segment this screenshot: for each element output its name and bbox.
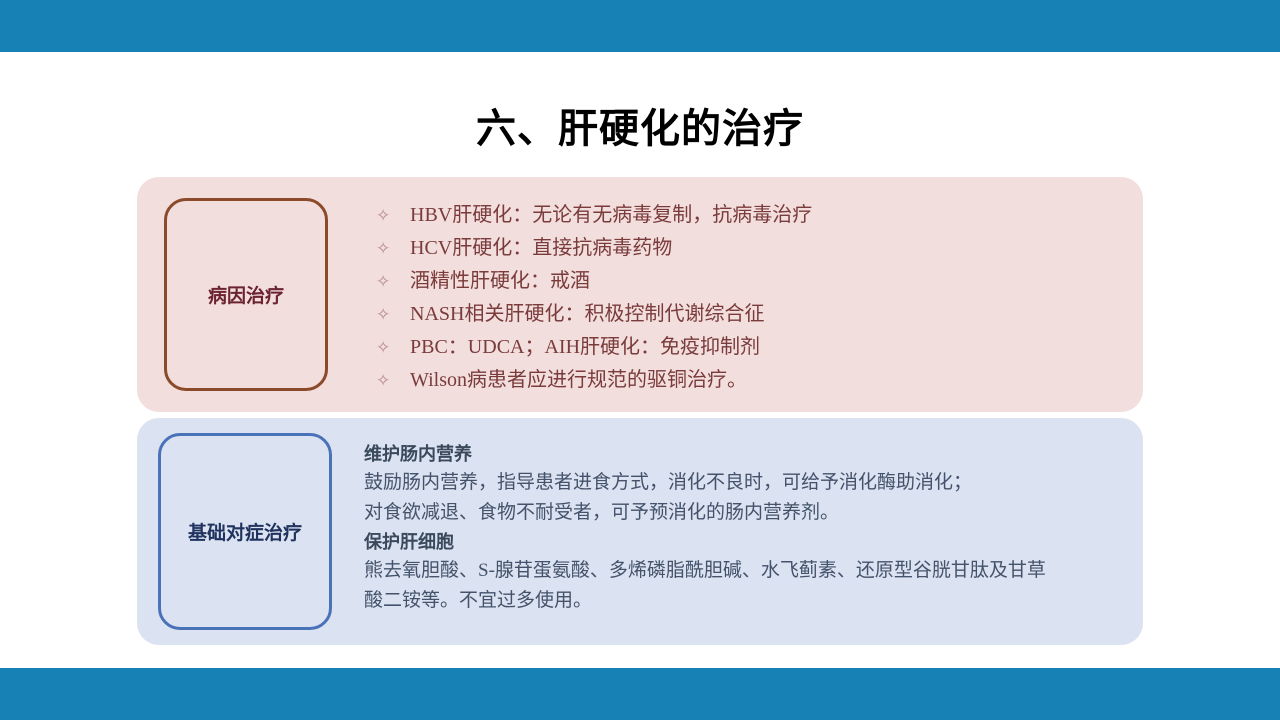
section-cause-treatment: 病因治疗 ✧ HBV肝硬化：无论有无病毒复制，抗病毒治疗 ✧ HCV肝硬化：直接… bbox=[137, 177, 1143, 412]
basic-body-text: 维护肠内营养 鼓励肠内营养，指导患者进食方式，消化不良时，可给予消化酶助消化； … bbox=[332, 418, 1143, 645]
star-bullet-icon: ✧ bbox=[376, 233, 410, 265]
star-bullet-icon: ✧ bbox=[376, 332, 410, 364]
star-bullet-icon: ✧ bbox=[376, 266, 410, 298]
list-item: ✧ NASH相关肝硬化：积极控制代谢综合征 bbox=[376, 298, 1143, 331]
list-item: ✧ PBC：UDCA；AIH肝硬化：免疫抑制剂 bbox=[376, 331, 1143, 364]
subsection-line: 酸二铵等。不宜过多使用。 bbox=[364, 586, 1117, 616]
subsection-line: 熊去氧胆酸、S-腺苷蛋氨酸、多烯磷脂酰胆碱、水飞蓟素、还原型谷胱甘肽及甘草 bbox=[364, 556, 1117, 586]
list-item-text: HCV肝硬化：直接抗病毒药物 bbox=[410, 232, 1143, 264]
list-item-text: 酒精性肝硬化：戒酒 bbox=[410, 265, 1143, 297]
list-item-text: HBV肝硬化：无论有无病毒复制，抗病毒治疗 bbox=[410, 199, 1143, 231]
subsection-line: 对食欲减退、食物不耐受者，可予预消化的肠内营养剂。 bbox=[364, 498, 1117, 528]
section-basic-label-text: 基础对症治疗 bbox=[188, 518, 302, 545]
section-cause-label: 病因治疗 bbox=[164, 198, 328, 391]
list-item: ✧ HCV肝硬化：直接抗病毒药物 bbox=[376, 232, 1143, 265]
bottom-decorative-bar bbox=[0, 668, 1280, 720]
section-basic-treatment: 基础对症治疗 维护肠内营养 鼓励肠内营养，指导患者进食方式，消化不良时，可给予消… bbox=[137, 418, 1143, 645]
subsection-line: 鼓励肠内营养，指导患者进食方式，消化不良时，可给予消化酶助消化； bbox=[364, 468, 1117, 498]
list-item-text: PBC：UDCA；AIH肝硬化：免疫抑制剂 bbox=[410, 331, 1143, 363]
list-item-text: Wilson病患者应进行规范的驱铜治疗。 bbox=[410, 364, 1143, 396]
section-cause-label-text: 病因治疗 bbox=[208, 281, 284, 308]
list-item: ✧ Wilson病患者应进行规范的驱铜治疗。 bbox=[376, 364, 1143, 397]
star-bullet-icon: ✧ bbox=[376, 365, 410, 397]
star-bullet-icon: ✧ bbox=[376, 299, 410, 331]
cause-bullet-list: ✧ HBV肝硬化：无论有无病毒复制，抗病毒治疗 ✧ HCV肝硬化：直接抗病毒药物… bbox=[328, 177, 1143, 412]
section-basic-label: 基础对症治疗 bbox=[158, 433, 332, 630]
list-item-text: NASH相关肝硬化：积极控制代谢综合征 bbox=[410, 298, 1143, 330]
list-item: ✧ 酒精性肝硬化：戒酒 bbox=[376, 265, 1143, 298]
subsection-heading: 维护肠内营养 bbox=[364, 440, 1117, 468]
list-item: ✧ HBV肝硬化：无论有无病毒复制，抗病毒治疗 bbox=[376, 199, 1143, 232]
page-title: 六、肝硬化的治疗 bbox=[0, 96, 1280, 154]
subsection-heading: 保护肝细胞 bbox=[364, 528, 1117, 556]
top-decorative-bar bbox=[0, 0, 1280, 52]
star-bullet-icon: ✧ bbox=[376, 200, 410, 232]
